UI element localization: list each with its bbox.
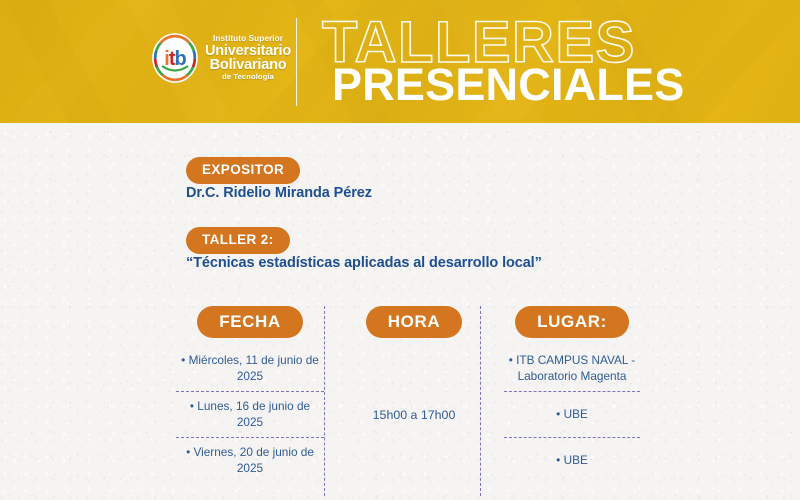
- column-header-fecha: FECHA: [197, 306, 303, 338]
- banner-title-solid: PRESENCIALES: [332, 62, 684, 107]
- logo-line-2: Universitario: [205, 44, 291, 59]
- main-content: EXPOSITOR Dr.C. Ridelio Miranda Pérez TA…: [0, 123, 800, 500]
- itb-badge-icon: itb: [152, 33, 198, 83]
- table-cell-fecha-2: • Lunes, 16 de junio de 2025: [176, 392, 324, 438]
- taller-section: TALLER 2:: [186, 227, 290, 254]
- expositor-label-pill: EXPOSITOR: [186, 157, 300, 184]
- column-divider-1: [324, 306, 325, 496]
- schedule-table: FECHA • Miércoles, 11 de junio de 2025 •…: [176, 306, 640, 496]
- logo-line-3: Bolivariano: [205, 58, 291, 73]
- table-cell-lugar-3: • UBE: [504, 438, 640, 484]
- column-fecha: FECHA • Miércoles, 11 de junio de 2025 •…: [176, 306, 324, 496]
- expositor-name: Dr.C. Ridelio Miranda Pérez: [186, 185, 372, 201]
- institution-logo: itb Instituto Superior Universitario Bol…: [152, 33, 291, 83]
- table-cell-fecha-1: • Miércoles, 11 de junio de 2025: [176, 346, 324, 392]
- table-cell-hora: 15h00 a 17h00: [348, 346, 480, 484]
- banner-vertical-divider: [296, 18, 297, 106]
- institution-name-block: Instituto Superior Universitario Bolivar…: [205, 35, 291, 81]
- table-cell-fecha-3: • Viernes, 20 de junio de 2025: [176, 438, 324, 484]
- table-cell-lugar-2: • UBE: [504, 392, 640, 438]
- svg-text:itb: itb: [164, 48, 186, 70]
- taller-label-pill: TALLER 2:: [186, 227, 290, 254]
- taller-title: “Técnicas estadísticas aplicadas al desa…: [186, 255, 542, 271]
- column-divider-2: [480, 306, 481, 496]
- logo-line-4: de Tecnología: [205, 73, 291, 81]
- expositor-section: EXPOSITOR: [186, 157, 300, 184]
- column-hora: HORA 15h00 a 17h00: [348, 306, 480, 496]
- column-header-hora: HORA: [366, 306, 462, 338]
- header-banner: itb Instituto Superior Universitario Bol…: [0, 0, 800, 123]
- column-lugar: LUGAR: • ITB CAMPUS NAVAL - Laboratorio …: [504, 306, 640, 496]
- table-cell-lugar-1: • ITB CAMPUS NAVAL - Laboratorio Magenta: [504, 346, 640, 392]
- column-header-lugar: LUGAR:: [515, 306, 629, 338]
